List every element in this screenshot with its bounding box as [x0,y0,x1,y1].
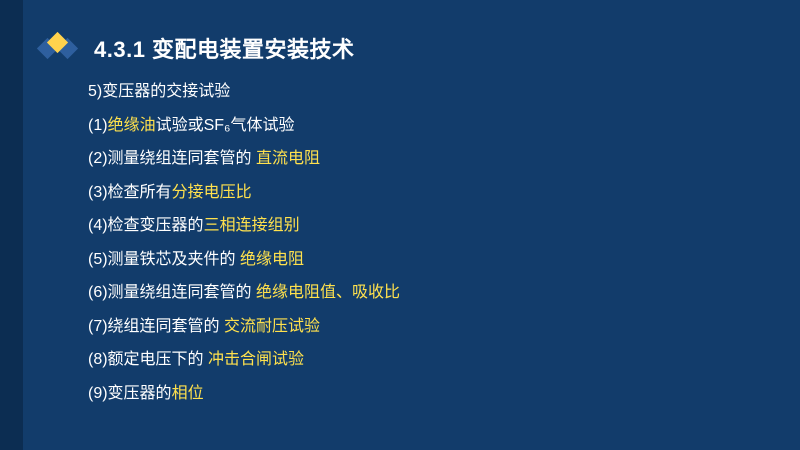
list-item: (2)测量绕组连同套管的 直流电阻 [88,151,748,167]
list-item-highlight: 绝缘电阻值、吸收比 [256,284,400,301]
page-title: 4.3.1 变配电装置安装技术 [94,32,355,64]
list-item-prefix: (2)测量绕组连同套管的 [88,150,256,167]
slide-root: 4.3.1 变配电装置安装技术 5)变压器的交接试验 (1)绝缘油试验或SF₆气… [0,0,800,450]
list-item-prefix: (6)测量绕组连同套管的 [88,284,256,301]
list-item: (1)绝缘油试验或SF₆气体试验 [88,118,748,134]
diamond-logo-icon [40,32,80,64]
list-item-suffix: 试验或SF₆气体试验 [156,117,295,134]
list-item-highlight: 绝缘油 [108,117,156,134]
list-item-highlight: 直流电阻 [256,150,320,167]
list-item-prefix: (4)检查变压器的 [88,217,204,234]
list-item-highlight: 绝缘电阻 [240,251,304,268]
list-item-prefix: (5)测量铁芯及夹件的 [88,251,240,268]
list-item-prefix: (9)变压器的 [88,385,172,402]
list-item-highlight: 三相连接组别 [204,217,300,234]
list-item-prefix: (8)额定电压下的 [88,351,208,368]
list-item: (5)测量铁芯及夹件的 绝缘电阻 [88,252,748,268]
list-item: (4)检查变压器的三相连接组别 [88,218,748,234]
list-item-highlight: 相位 [172,385,204,402]
list-item-prefix: (7)绕组连同套管的 [88,318,224,335]
left-accent-bar [0,0,23,450]
list-item: (7)绕组连同套管的 交流耐压试验 [88,319,748,335]
list-item-prefix: (3)检查所有 [88,184,172,201]
content-list: 5)变压器的交接试验 (1)绝缘油试验或SF₆气体试验 (2)测量绕组连同套管的… [88,84,748,419]
slide-header: 4.3.1 变配电装置安装技术 [40,28,355,68]
list-item: 5)变压器的交接试验 [88,84,748,100]
list-item-highlight: 交流耐压试验 [224,318,320,335]
list-item-prefix: (1) [88,117,108,134]
list-item: (9)变压器的相位 [88,386,748,402]
list-item: (8)额定电压下的 冲击合闸试验 [88,352,748,368]
list-item-prefix: 5)变压器的交接试验 [88,83,230,100]
list-item: (6)测量绕组连同套管的 绝缘电阻值、吸收比 [88,285,748,301]
list-item-highlight: 分接电压比 [172,184,252,201]
list-item: (3)检查所有分接电压比 [88,185,748,201]
list-item-highlight: 冲击合闸试验 [208,351,304,368]
